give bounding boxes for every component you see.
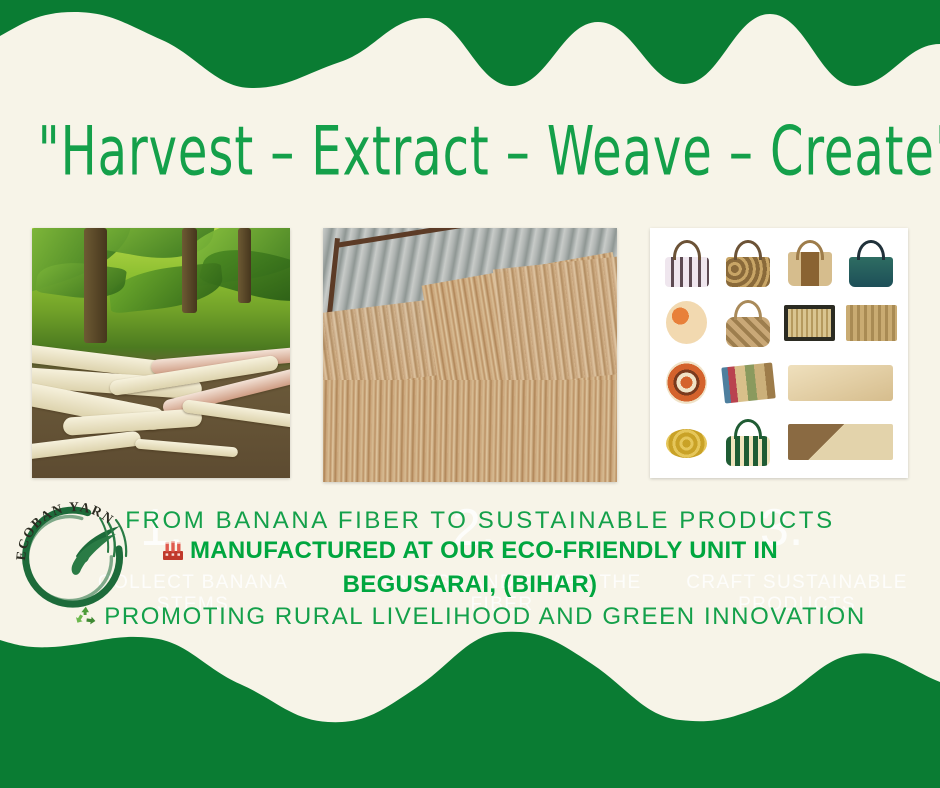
message-line-3: BEGUSARAI, (BIHAR) (0, 569, 940, 601)
factory-icon (162, 539, 184, 569)
bottom-wave-decoration (0, 628, 940, 788)
message-line-1: FROM BANANA FIBER TO SUSTAINABLE PRODUCT… (0, 506, 940, 536)
photo-strip (32, 228, 908, 486)
poster-headline: "Harvest – Extract – Weave – Create" (38, 112, 903, 191)
photo-fiber-drying (323, 228, 617, 482)
photo-banana-plantation (32, 228, 290, 478)
message-line-2: MANUFACTURED AT OUR ECO-FRIENDLY UNIT IN (0, 536, 940, 569)
message-line-2-text: MANUFACTURED AT OUR ECO-FRIENDLY UNIT IN (190, 537, 778, 564)
photo-product-collage (650, 228, 908, 478)
message-line-4-text: PROMOTING RURAL LIVELIHOOD AND GREEN INN… (104, 603, 866, 630)
poster-canvas: "Harvest – Extract – Weave – Create" (0, 0, 940, 788)
top-wave-decoration (0, 0, 940, 92)
message-block: FROM BANANA FIBER TO SUSTAINABLE PRODUCT… (0, 506, 940, 636)
